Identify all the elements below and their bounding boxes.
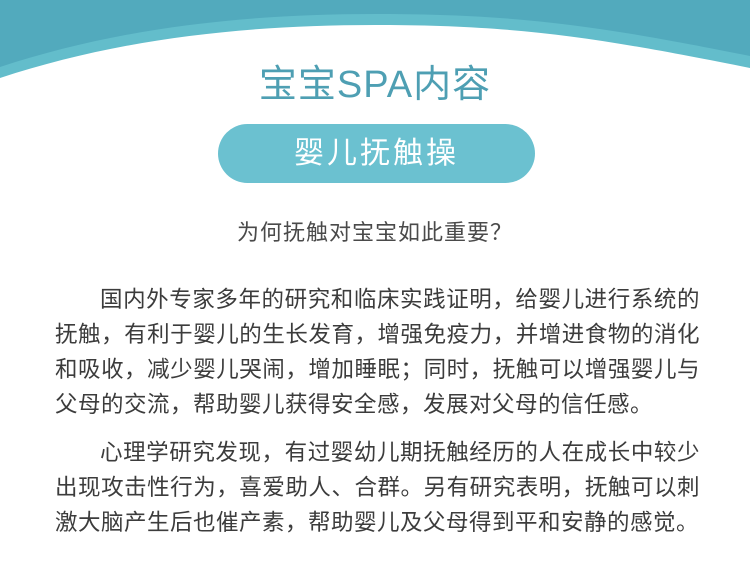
spa-content-page: 宝宝SPA内容 婴儿抚触操 为何抚触对宝宝如此重要？ 国内外专家多年的研究和临床…: [0, 0, 750, 583]
banner-primary-band: [0, 0, 750, 67]
badge-label: 婴儿抚触操: [294, 139, 459, 169]
paragraph-2: 心理学研究发现，有过婴幼儿期抚触经历的人在成长中较少出现攻击性行为，喜爱助人、合…: [55, 435, 700, 540]
badge-infant-massage: 婴儿抚触操: [218, 124, 535, 183]
paragraph-1: 国内外专家多年的研究和临床实践证明，给婴儿进行系统的抚触，有利于婴儿的生长发育，…: [55, 282, 700, 422]
sub-heading: 为何抚触对宝宝如此重要？: [0, 218, 750, 248]
body-copy: 国内外专家多年的研究和临床实践证明，给婴儿进行系统的抚触，有利于婴儿的生长发育，…: [55, 282, 700, 540]
page-title: 宝宝SPA内容: [0, 62, 750, 108]
